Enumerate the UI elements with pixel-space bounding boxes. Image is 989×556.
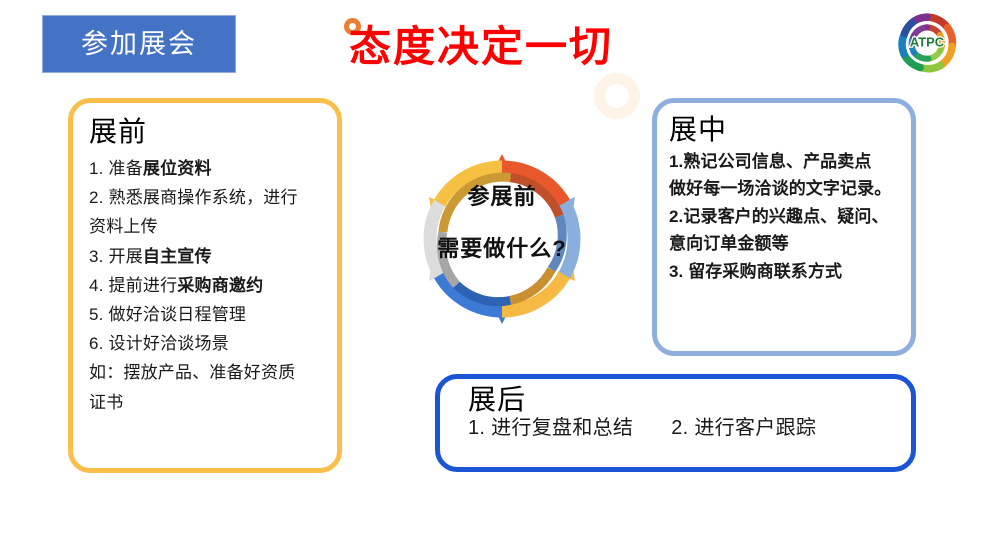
list-item: 证书: [89, 388, 324, 417]
card-after-expo-heading: 展后: [468, 385, 911, 416]
list-item: 2. 进行客户跟踪: [671, 417, 816, 439]
list-item: 4. 提前进行采购商邀约: [89, 271, 324, 300]
list-item-text: 如：摆放产品、准备好资质: [89, 363, 295, 382]
list-item-emphasis: 展位资料: [143, 159, 212, 178]
list-item-text: 4. 提前进行: [89, 276, 177, 295]
card-before-expo-heading: 展前: [89, 117, 324, 148]
list-item: 3. 留存采购商联系方式: [669, 258, 903, 286]
card-before-expo: 展前 1. 准备展位资料 2. 熟悉展商操作系统，进行 资料上传 3. 开展自主…: [68, 98, 342, 473]
card-after-expo: 展后 1. 进行复盘和总结2. 进行客户跟踪: [435, 374, 916, 472]
section-tag-attend-expo: 参加展会: [42, 15, 236, 73]
list-item: 3. 开展自主宣传: [89, 242, 324, 271]
list-item: 意向订单金额等: [669, 230, 903, 258]
atpc-logo: ATPC: [893, 9, 961, 77]
list-item-text: 1. 准备: [89, 159, 143, 178]
card-before-expo-list: 1. 准备展位资料 2. 熟悉展商操作系统，进行 资料上传 3. 开展自主宣传 …: [89, 154, 324, 417]
card-during-expo-list: 1.熟记公司信息、产品卖点 做好每一场洽谈的文字记录。 2.记录客户的兴趣点、疑…: [669, 148, 903, 286]
decorative-ring-large-icon: [594, 73, 640, 119]
list-item-text: 3. 开展: [89, 247, 143, 266]
list-item: 资料上传: [89, 212, 324, 241]
list-item-text: 资料上传: [89, 217, 158, 236]
list-item-text: 证书: [89, 393, 123, 412]
list-item: 做好每一场洽谈的文字记录。: [669, 175, 903, 203]
list-item-text: 6. 设计好洽谈场景: [89, 334, 229, 353]
page-title: 态度决定一切: [349, 26, 613, 68]
section-tag-label: 参加展会: [81, 31, 197, 58]
card-during-expo: 展中 1.熟记公司信息、产品卖点 做好每一场洽谈的文字记录。 2.记录客户的兴趣…: [652, 98, 916, 356]
list-item: 2. 熟悉展商操作系统，进行: [89, 183, 324, 212]
cycle-ring-diagram: [415, 152, 589, 326]
list-item: 6. 设计好洽谈场景: [89, 329, 324, 358]
list-item: 1.熟记公司信息、产品卖点: [669, 148, 903, 176]
ring-inner-upper-right: [552, 216, 563, 269]
list-item-text: 5. 做好洽谈日程管理: [89, 305, 246, 324]
ring-outer-band: [430, 167, 574, 311]
list-item: 如：摆放产品、准备好资质: [89, 358, 324, 387]
list-item: 1. 进行复盘和总结: [468, 417, 633, 439]
list-item: 5. 做好洽谈日程管理: [89, 300, 324, 329]
atpc-logo-text: ATPC: [910, 34, 944, 49]
card-after-expo-list: 1. 进行复盘和总结2. 进行客户跟踪: [468, 416, 911, 441]
slide-canvas: 参加展会 态度决定一切 A: [0, 0, 989, 556]
ring-inner-band: [441, 177, 562, 302]
list-item: 1. 准备展位资料: [89, 154, 324, 183]
card-during-expo-heading: 展中: [669, 115, 903, 146]
list-item-text: 2. 熟悉展商操作系统，进行: [89, 188, 298, 207]
list-item-emphasis: 采购商邀约: [177, 276, 263, 295]
list-item-emphasis: 自主宣传: [143, 247, 212, 266]
list-item: 2.记录客户的兴趣点、疑问、: [669, 203, 903, 231]
